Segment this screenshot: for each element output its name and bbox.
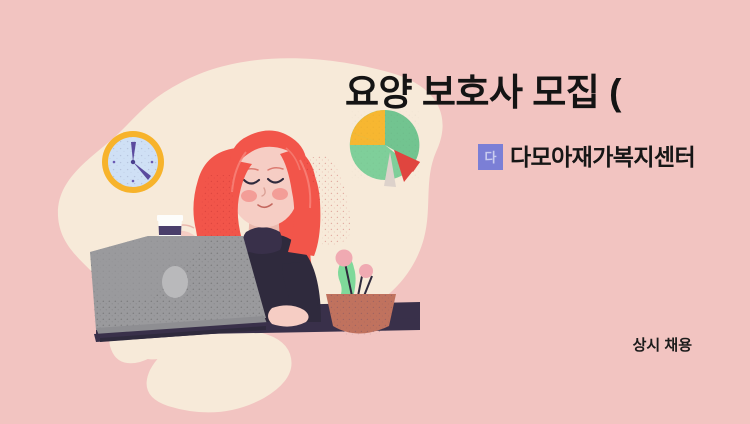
organization-badge-icon: 다	[478, 144, 503, 170]
pie-chart-graphic	[350, 110, 420, 187]
wall-clock-icon	[102, 131, 164, 193]
organization-row: 다 다모아재가복지센터	[478, 144, 695, 170]
banner-illustration	[0, 0, 750, 424]
recruitment-banner: 요양 보호사 모집 ( 다 다모아재가복지센터 상시 채용	[0, 0, 750, 424]
page-title: 요양 보호사 모집 (	[345, 74, 621, 113]
status-badge: 상시 채용	[633, 334, 692, 355]
organization-name: 다모아재가복지센터	[510, 146, 695, 169]
